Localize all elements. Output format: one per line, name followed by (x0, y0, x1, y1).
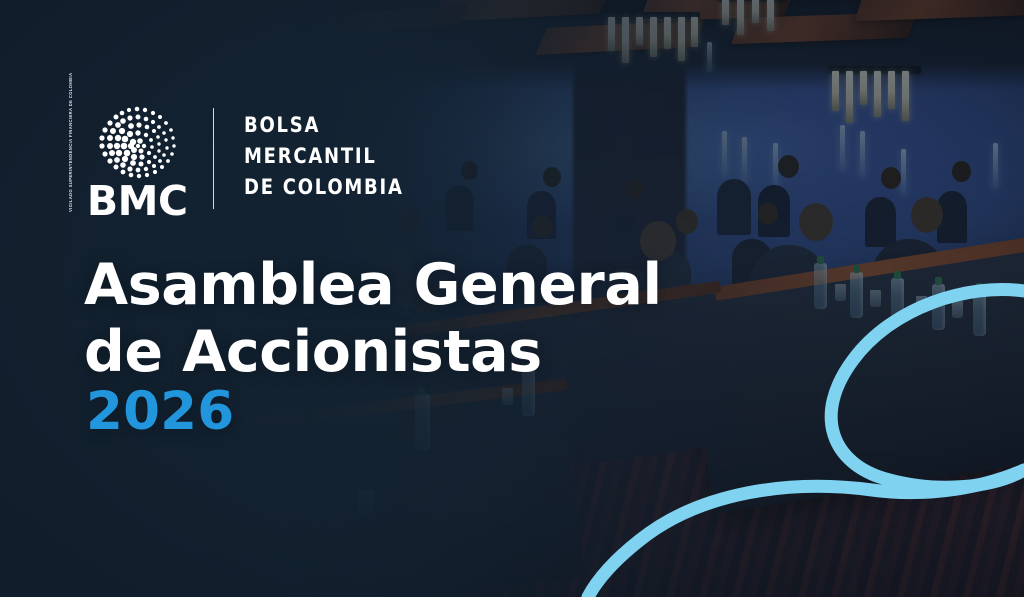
org-line-3: DE COLOMBIA (244, 173, 404, 204)
headline-line-2: de Accionistas (84, 319, 662, 386)
bmc-wordmark: BMC (87, 181, 188, 222)
logo-divider (213, 108, 215, 209)
event-banner: VIGILADO SUPERINTENDENCIA FINANCIERA DE … (0, 0, 1024, 597)
bmc-logo-mark: BMC (87, 104, 188, 222)
event-year: 2026 (86, 385, 234, 438)
banner-content: VIGILADO SUPERINTENDENCIA FINANCIERA DE … (0, 0, 1024, 597)
org-line-1: BOLSA (244, 111, 404, 142)
bmc-halftone-sphere-icon (93, 104, 181, 182)
org-line-2: MERCANTIL (244, 142, 404, 173)
headline-line-1: Asamblea General (84, 252, 662, 319)
vigilado-supervision-text: VIGILADO SUPERINTENDENCIA FINANCIERA DE … (68, 106, 74, 212)
bmc-logo-lockup[interactable]: VIGILADO SUPERINTENDENCIA FINANCIERA DE … (68, 104, 416, 222)
organization-name: BOLSA MERCANTIL DE COLOMBIA (244, 111, 404, 204)
page-title: Asamblea General de Accionistas (84, 252, 662, 387)
